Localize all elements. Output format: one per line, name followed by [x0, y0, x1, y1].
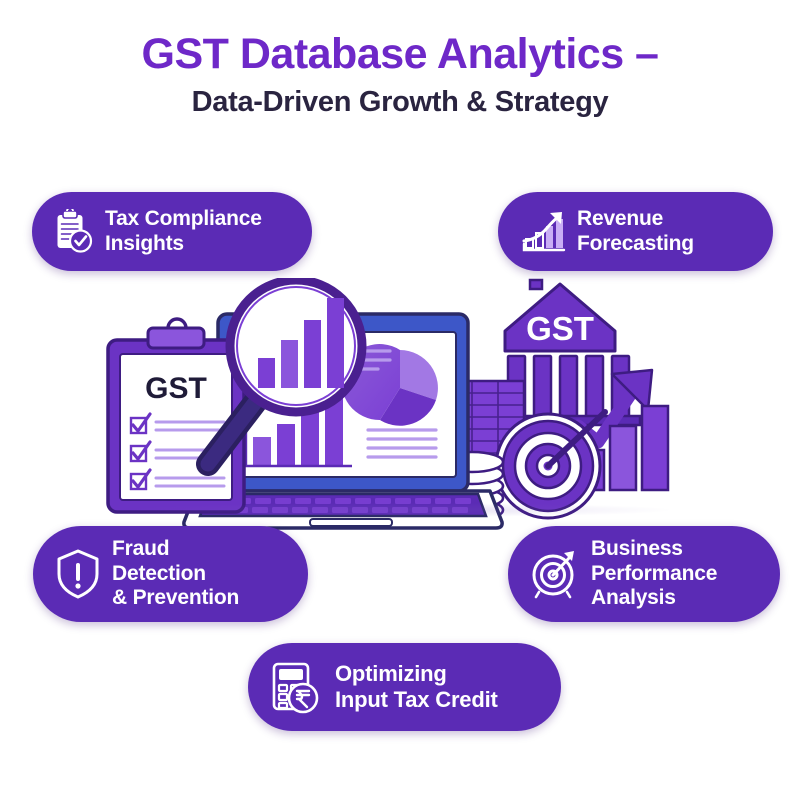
- ground-shadow: [130, 503, 670, 517]
- target-arrow-icon: [530, 548, 580, 600]
- badge-label: Tax Compliance Insights: [105, 207, 262, 256]
- header-block: GST Database Analytics – Data-Driven Gro…: [0, 32, 800, 119]
- badge-revenue-forecasting[interactable]: Revenue Forecasting: [498, 192, 773, 271]
- central-illustration: GST: [100, 278, 700, 530]
- calculator-rupee-icon: [270, 660, 324, 714]
- badge-label: Revenue Forecasting: [577, 207, 694, 256]
- page-title: GST Database Analytics –: [0, 32, 800, 77]
- badge-label: Fraud Detection & Prevention: [112, 537, 239, 610]
- clipboard-check-icon: [54, 209, 94, 255]
- badge-label: Business Performance Analysis: [591, 537, 717, 610]
- target-dartboard-icon: [496, 412, 605, 518]
- building-gst-label: GST: [526, 310, 594, 347]
- illustration-svg: GST: [100, 278, 700, 530]
- badge-fraud-detection-prevention[interactable]: Fraud Detection & Prevention: [33, 526, 308, 622]
- growth-bar-chart-arrow-icon: [520, 210, 566, 254]
- clipboard-gst-label: GST: [145, 372, 207, 405]
- badge-optimizing-input-tax-credit[interactable]: Optimizing Input Tax Credit: [248, 643, 561, 731]
- page-subtitle: Data-Driven Growth & Strategy: [0, 87, 800, 119]
- badge-tax-compliance-insights[interactable]: Tax Compliance Insights: [32, 192, 312, 271]
- clipboard-icon: GST: [108, 319, 244, 512]
- infographic-canvas: GST Database Analytics – Data-Driven Gro…: [0, 0, 800, 800]
- shield-alert-icon: [55, 548, 101, 600]
- badge-label: Optimizing Input Tax Credit: [335, 661, 498, 712]
- badge-business-performance-analysis[interactable]: Business Performance Analysis: [508, 526, 780, 622]
